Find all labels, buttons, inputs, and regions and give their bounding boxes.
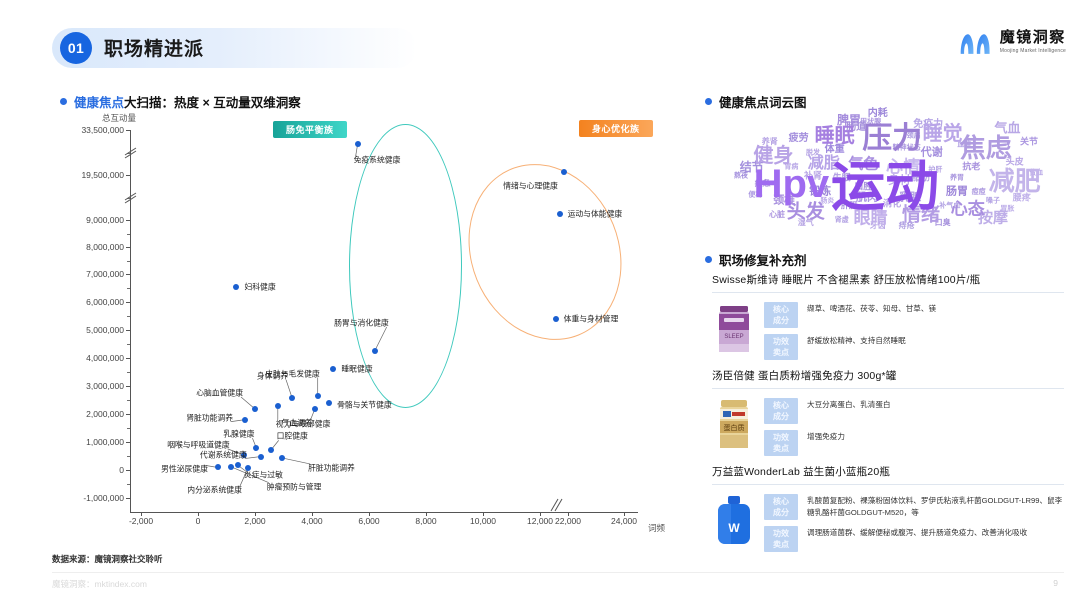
scatter-point-label: 妇科健康 bbox=[244, 281, 275, 292]
product-title: Swisse斯维诗 睡眠片 不含褪黑素 舒压放松情绪100片/瓶 bbox=[712, 272, 1064, 292]
scatter-point[interactable] bbox=[242, 417, 248, 423]
benefits-row: 功效卖点 调理肠道菌群、缓解便秘或腹泻、提升肠道免疫力、改善消化吸收 bbox=[764, 526, 1064, 552]
x-tick-label: 0 bbox=[196, 516, 201, 526]
word-cloud-term: 焦虑 bbox=[960, 135, 1012, 161]
ingredients-row: 核心成分 大豆分离蛋白、乳清蛋白 bbox=[764, 398, 1064, 424]
bullet-icon bbox=[705, 256, 712, 263]
axis-break-marker bbox=[123, 190, 139, 206]
y-tick-label: 5,000,000 bbox=[86, 325, 124, 335]
product-thumbnail: 蛋白质 bbox=[712, 396, 756, 452]
scatter-point[interactable] bbox=[372, 348, 378, 354]
ingredients-tag: 核心成分 bbox=[764, 398, 798, 424]
word-cloud-term: 痘痘 bbox=[972, 189, 986, 196]
scatter-point-label: 身体调养 bbox=[257, 370, 288, 381]
x-tick-label: 24,000 bbox=[611, 516, 637, 526]
y-tick-label: 33,500,000 bbox=[81, 125, 124, 135]
word-cloud-term: 压力 bbox=[862, 124, 922, 154]
y-axis-line bbox=[130, 130, 131, 512]
x-tick-label: 4,000 bbox=[301, 516, 322, 526]
ingredients-tag: 核心成分 bbox=[764, 494, 798, 520]
benefits-row: 功效卖点 舒缓放松精神、支持自然睡眠 bbox=[764, 334, 1064, 360]
benefits-row: 功效卖点 增强免疫力 bbox=[764, 430, 1064, 456]
product-title: 汤臣倍健 蛋白质粉增强免疫力 300g*罐 bbox=[712, 368, 1064, 388]
ingredients-row: 核心成分 乳酸菌复配粉、裸藻粉固体饮料、罗伊氏粘液乳杆菌GOLDGUT-LR99… bbox=[764, 494, 1064, 520]
y-tick-label: 4,000,000 bbox=[86, 353, 124, 363]
data-source-note: 数据来源：魔镜洞察社交聆听 bbox=[52, 553, 163, 565]
scatter-point-label: 乳腺健康 bbox=[223, 429, 254, 440]
scatter-point-label: 内分泌系统健康 bbox=[187, 485, 242, 496]
chart-heading-accent: 健康焦点 bbox=[74, 96, 124, 110]
product-card[interactable]: 汤臣倍健 蛋白质粉增强免疫力 300g*罐 蛋白质 bbox=[712, 368, 1064, 456]
benefits-text: 调理肠道菌群、缓解便秘或腹泻、提升肠道免疫力、改善消化吸收 bbox=[807, 526, 1027, 539]
word-cloud-term: 运动 bbox=[831, 160, 939, 214]
scatter-point-label: 代谢系统健康 bbox=[200, 449, 247, 460]
product-card[interactable]: 万益蓝WonderLab 益生菌小蓝瓶20瓶 W 核心成分 乳酸菌复配粉、裸藻粉… bbox=[712, 464, 1064, 552]
product-thumbnail: W bbox=[712, 492, 756, 548]
logo-name: 魔镜洞察 bbox=[1000, 30, 1066, 47]
benefits-tag: 功效卖点 bbox=[764, 430, 798, 456]
scatter-point-label: 口腔健康 bbox=[277, 431, 308, 442]
svg-text:SLEEP: SLEEP bbox=[724, 334, 743, 340]
svg-text:蛋白质: 蛋白质 bbox=[724, 423, 745, 432]
y-tick-label: 2,000,000 bbox=[86, 409, 124, 419]
scatter-point[interactable] bbox=[215, 464, 221, 470]
footer-brand: 魔镜洞察：mktindex.com bbox=[52, 578, 147, 590]
axis-break-marker bbox=[123, 145, 139, 161]
brand-logo: 魔镜洞察 Moojing Market Intelligence bbox=[959, 28, 1066, 56]
scatter-point[interactable] bbox=[279, 455, 285, 461]
y-tick-label: 8,000,000 bbox=[86, 242, 124, 252]
x-tick-label: 10,000 bbox=[470, 516, 496, 526]
word-cloud-term: 关节 bbox=[1020, 138, 1038, 147]
cluster-badge-mindbody: 身心优化族 bbox=[579, 120, 653, 137]
products-section-heading: 职场修复补充剂 bbox=[705, 250, 807, 269]
cluster-ellipse-mindbody bbox=[443, 141, 648, 363]
scatter-chart: 总互动量 词频 33,500,00019,500,0009,000,0008,0… bbox=[58, 112, 668, 547]
logo-tagline: Moojing Market Intelligence bbox=[1000, 48, 1066, 54]
word-cloud-term: 肾虚 bbox=[835, 217, 849, 224]
scatter-point-label: 情绪与心理健康 bbox=[503, 180, 558, 191]
word-cloud-term: 抗老 bbox=[962, 163, 980, 172]
page-number: 9 bbox=[1053, 578, 1058, 588]
scatter-point-label: 运动与体能健康 bbox=[568, 209, 623, 220]
chart-heading-rest: 大扫描：热度 × 互动量双维洞察 bbox=[124, 96, 301, 110]
ingredients-text: 缬草、啤酒花、茯苓、知母、甘草、镁 bbox=[807, 302, 936, 315]
y-tick-label: 1,000,000 bbox=[86, 437, 124, 447]
benefits-text: 舒缓放松精神、支持自然睡眠 bbox=[807, 334, 906, 347]
label-leader bbox=[282, 458, 310, 464]
word-cloud-term: 脾胃 bbox=[837, 114, 861, 126]
y-tick-label: 6,000,000 bbox=[86, 297, 124, 307]
x-tick-label: -2,000 bbox=[129, 516, 153, 526]
x-tick-label: 2,000 bbox=[244, 516, 265, 526]
section-number-badge: 01 bbox=[60, 32, 92, 64]
scatter-point[interactable] bbox=[355, 141, 361, 147]
scatter-point-label: 睡眠健康 bbox=[341, 363, 372, 374]
word-cloud-term: 嗓子 bbox=[986, 197, 1000, 204]
scatter-point-label: 肾脏功能调养 bbox=[186, 412, 233, 423]
y-axis-title: 总互动量 bbox=[102, 112, 136, 124]
scatter-point-label: 肝脏功能调养 bbox=[308, 462, 355, 473]
ingredients-tag: 核心成分 bbox=[764, 302, 798, 328]
slide-page: 01 职场精进派 魔镜洞察 Moojing Market Intelligenc… bbox=[0, 0, 1080, 608]
scatter-point-label: 肠胃与消化健康 bbox=[334, 318, 389, 329]
x-tick-label: 12,000 bbox=[527, 516, 553, 526]
ingredients-row: 核心成分 缬草、啤酒花、茯苓、知母、甘草、镁 bbox=[764, 302, 1064, 328]
x-axis-title: 词频 bbox=[648, 522, 665, 534]
y-tick-label: 7,000,000 bbox=[86, 269, 124, 279]
product-card[interactable]: Swisse斯维诗 睡眠片 不含褪黑素 舒压放松情绪100片/瓶 SLEEP 核… bbox=[712, 272, 1064, 360]
scatter-point[interactable] bbox=[235, 462, 241, 468]
chart-section-heading: 健康焦点大扫描：热度 × 互动量双维洞察 bbox=[60, 92, 301, 111]
scatter-point[interactable] bbox=[258, 454, 264, 460]
benefits-tag: 功效卖点 bbox=[764, 526, 798, 552]
scatter-point[interactable] bbox=[312, 406, 318, 412]
product-title: 万益蓝WonderLab 益生菌小蓝瓶20瓶 bbox=[712, 464, 1064, 484]
benefits-text: 增强免疫力 bbox=[807, 430, 845, 443]
word-cloud-term: 心脏 bbox=[769, 211, 785, 219]
scatter-point[interactable] bbox=[561, 169, 567, 175]
benefits-tag: 功效卖点 bbox=[764, 334, 798, 360]
scatter-point-label: 肿瘤预防与管理 bbox=[267, 481, 322, 492]
word-cloud: 运动Hpv压力焦虑减肥睡眠睡觉健身头发情绪眼睛心态心情减脂气色按摩气血结节脾胃锻… bbox=[705, 100, 1065, 240]
word-cloud-term: 睡觉 bbox=[923, 124, 963, 144]
scatter-point[interactable] bbox=[268, 447, 274, 453]
x-tick-label: 22,000 bbox=[555, 516, 581, 526]
scatter-point-label: 体重与身材管理 bbox=[564, 313, 619, 324]
y-tick-label: -1,000,000 bbox=[83, 493, 124, 503]
y-tick-label: 9,000,000 bbox=[86, 215, 124, 225]
scatter-point[interactable] bbox=[253, 445, 259, 451]
word-cloud-term: 减肥 bbox=[989, 168, 1041, 194]
word-cloud-term: 心态 bbox=[951, 201, 985, 218]
svg-text:W: W bbox=[728, 521, 740, 535]
scatter-point[interactable] bbox=[553, 316, 559, 322]
products-heading-label: 职场修复补充剂 bbox=[719, 250, 807, 269]
scatter-point[interactable] bbox=[252, 406, 258, 412]
cluster-badge-gut-immune: 肠免平衡族 bbox=[273, 121, 347, 138]
word-cloud-term: 养胃 bbox=[950, 175, 964, 182]
scatter-point[interactable] bbox=[228, 464, 234, 470]
word-cloud-term: Hpv bbox=[754, 164, 830, 204]
scatter-point-label: 骨骼与关节健康 bbox=[337, 400, 392, 411]
axis-break-marker bbox=[548, 497, 564, 513]
y-tick-label: 0 bbox=[119, 465, 124, 475]
ingredients-text: 乳酸菌复配粉、裸藻粉固体饮料、罗伊氏粘液乳杆菌GOLDGUT-LR99、鼠李糖乳… bbox=[807, 494, 1064, 518]
scatter-point[interactable] bbox=[315, 393, 321, 399]
footer-divider bbox=[52, 572, 1064, 573]
bullet-icon bbox=[60, 98, 67, 105]
x-tick-label: 6,000 bbox=[358, 516, 379, 526]
word-cloud-term: 睡眠 bbox=[815, 126, 855, 146]
blue-probiotic-bottle-icon: W bbox=[712, 492, 756, 548]
scatter-point-label: 免疫系统健康 bbox=[354, 155, 401, 166]
scatter-point-label: 男性泌尿健康 bbox=[161, 464, 208, 475]
x-tick-label: 8,000 bbox=[415, 516, 436, 526]
scatter-point[interactable] bbox=[233, 284, 239, 290]
word-cloud-term: 疲劳 bbox=[789, 134, 809, 144]
product-thumbnail: SLEEP bbox=[712, 300, 756, 356]
scatter-point[interactable] bbox=[275, 403, 281, 409]
scatter-point[interactable] bbox=[330, 366, 336, 372]
word-cloud-term: 肠胃 bbox=[946, 187, 968, 198]
scatter-point-label: 视力与眼部健康 bbox=[276, 418, 331, 429]
scatter-point[interactable] bbox=[289, 395, 295, 401]
scatter-point[interactable] bbox=[326, 400, 332, 406]
word-cloud-term: 内耗 bbox=[868, 109, 888, 119]
scatter-point-label: 炎症与过敏 bbox=[244, 470, 283, 481]
page-title: 职场精进派 bbox=[104, 34, 204, 61]
moojing-m-icon bbox=[959, 28, 993, 56]
gold-protein-can-icon: 蛋白质 bbox=[712, 396, 756, 452]
scatter-point[interactable] bbox=[557, 211, 563, 217]
purple-supplement-jar-icon: SLEEP bbox=[712, 300, 756, 356]
ingredients-text: 大豆分离蛋白、乳清蛋白 bbox=[807, 398, 891, 411]
y-tick-label: 3,000,000 bbox=[86, 381, 124, 391]
scatter-point-label: 心脑血管健康 bbox=[196, 387, 243, 398]
y-tick-label: 19,500,000 bbox=[81, 170, 124, 180]
